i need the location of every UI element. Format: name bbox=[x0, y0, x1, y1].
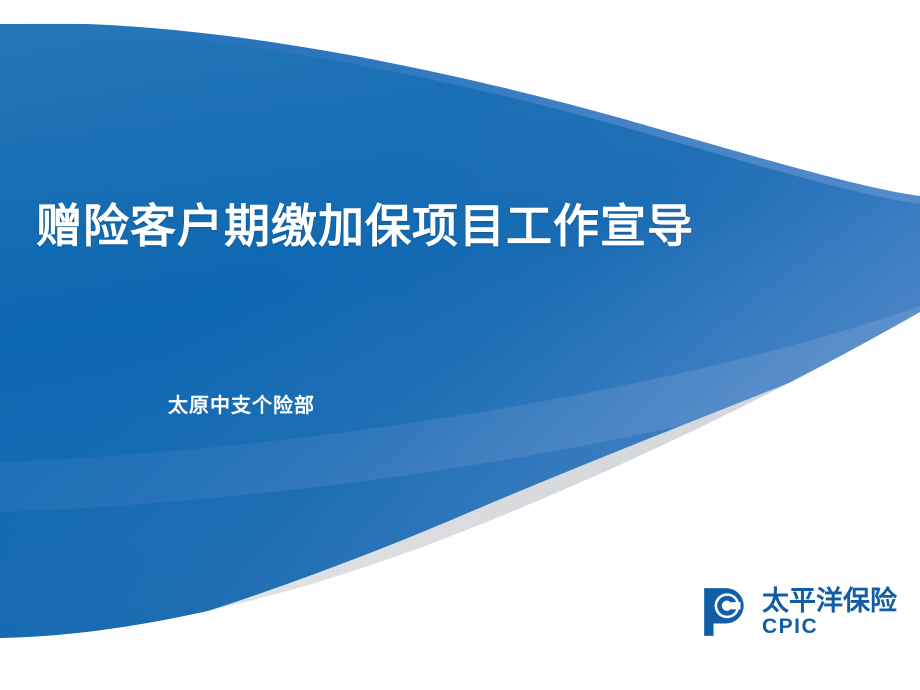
title-slide: 赠险客户期缴加保项目工作宣导 太原中支个险部 太平洋保险 CPIC bbox=[0, 0, 920, 690]
title-block: 赠险客户期缴加保项目工作宣导 bbox=[36, 196, 836, 256]
cpic-logo: 太平洋保险 CPIC bbox=[700, 586, 897, 638]
cpic-logo-mark bbox=[700, 586, 752, 638]
page-title: 赠险客户期缴加保项目工作宣导 bbox=[36, 196, 836, 256]
logo-chinese-name: 太平洋保险 bbox=[762, 586, 897, 616]
page-subtitle: 太原中支个险部 bbox=[168, 392, 315, 420]
logo-wordmark: 太平洋保险 CPIC bbox=[762, 586, 897, 638]
logo-english-name: CPIC bbox=[762, 616, 897, 638]
subtitle-block: 太原中支个险部 bbox=[168, 392, 315, 420]
